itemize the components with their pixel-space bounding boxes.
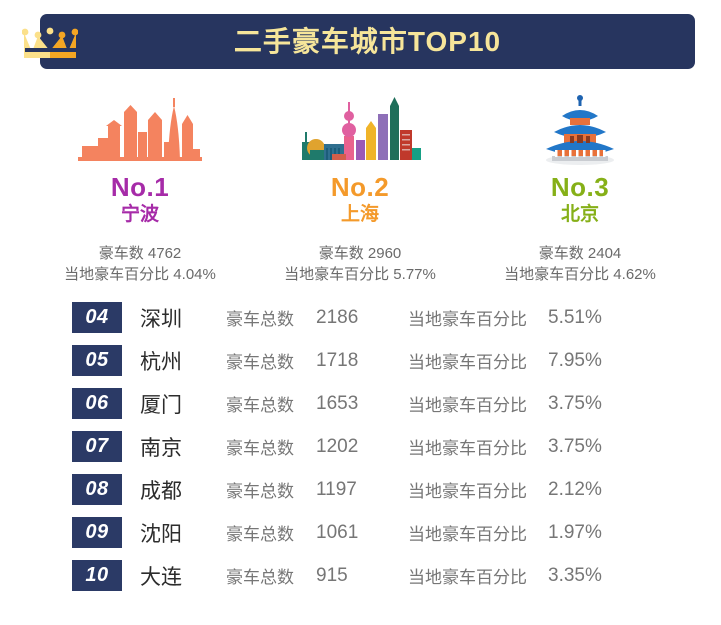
row-percent-label: 当地豪车百分比 (408, 305, 548, 330)
row-percent-label: 当地豪车百分比 (408, 391, 548, 416)
rank-badge: 07 (72, 431, 122, 462)
row-total-label: 豪车总数 (226, 391, 316, 416)
podium-percent-1: 当地豪车百分比 4.04% (20, 264, 260, 285)
row-percent-label: 当地豪车百分比 (408, 477, 548, 502)
podium-stats-2: 豪车数 2960 当地豪车百分比 5.77% (240, 243, 480, 285)
ningbo-skyline-icon (20, 88, 260, 166)
table-row[interactable]: 09 沈阳 豪车总数 1061 当地豪车百分比 1.97% (0, 511, 721, 554)
row-city: 厦门 (140, 389, 226, 419)
podium-count-3: 豪车数 2404 (460, 243, 700, 264)
podium-stats-1: 豪车数 4762 当地豪车百分比 4.04% (20, 243, 260, 285)
shanghai-skyline-icon (240, 88, 480, 166)
row-total-label: 豪车总数 (226, 305, 316, 330)
table-row[interactable]: 06 厦门 豪车总数 1653 当地豪车百分比 3.75% (0, 382, 721, 425)
row-total-value: 1718 (316, 350, 408, 372)
table-row[interactable]: 04 深圳 豪车总数 2186 当地豪车百分比 5.51% (0, 296, 721, 339)
row-city: 沈阳 (140, 518, 226, 548)
row-total-label: 豪车总数 (226, 434, 316, 459)
row-total-value: 915 (316, 565, 408, 587)
city-name-1: 宁波 (20, 203, 260, 227)
city-name-2: 上海 (240, 203, 480, 227)
row-percent-value: 1.97% (548, 522, 602, 544)
row-total-label: 豪车总数 (226, 520, 316, 545)
row-percent-label: 当地豪车百分比 (408, 520, 548, 545)
podium-count-2: 豪车数 2960 (240, 243, 480, 264)
row-total-label: 豪车总数 (226, 477, 316, 502)
row-percent-value: 5.51% (548, 307, 602, 329)
row-percent-label: 当地豪车百分比 (408, 563, 548, 588)
row-percent-value: 2.12% (548, 479, 602, 501)
rank-label-2: No.2 (240, 172, 480, 202)
podium-item-2[interactable]: No.2 上海 豪车数 2960 当地豪车百分比 5.77% (240, 88, 480, 285)
row-total-value: 2186 (316, 307, 408, 329)
podium-stats-3: 豪车数 2404 当地豪车百分比 4.62% (460, 243, 700, 285)
row-total-value: 1197 (316, 479, 408, 501)
row-total-label: 豪车总数 (226, 563, 316, 588)
row-total-value: 1202 (316, 436, 408, 458)
podium-percent-3: 当地豪车百分比 4.62% (460, 264, 700, 285)
beijing-temple-of-heaven-icon (460, 88, 700, 166)
row-percent-label: 当地豪车百分比 (408, 434, 548, 459)
top3-podium: No.1 宁波 豪车数 4762 当地豪车百分比 4.04% (0, 88, 721, 283)
rank-badge: 04 (72, 302, 122, 333)
rank-badge: 05 (72, 345, 122, 376)
city-name-3: 北京 (460, 203, 700, 227)
podium-item-3[interactable]: No.3 北京 豪车数 2404 当地豪车百分比 4.62% (460, 88, 700, 285)
table-row[interactable]: 08 成都 豪车总数 1197 当地豪车百分比 2.12% (0, 468, 721, 511)
row-percent-value: 7.95% (548, 350, 602, 372)
row-percent-value: 3.75% (548, 393, 602, 415)
rank-label-1: No.1 (20, 172, 260, 202)
podium-count-1: 豪车数 4762 (20, 243, 260, 264)
rank-badge: 10 (72, 560, 122, 591)
row-city: 大连 (140, 561, 226, 591)
row-city: 南京 (140, 432, 226, 462)
podium-item-1[interactable]: No.1 宁波 豪车数 4762 当地豪车百分比 4.04% (20, 88, 260, 285)
rank-list: 04 深圳 豪车总数 2186 当地豪车百分比 5.51% 05 杭州 豪车总数… (0, 296, 721, 597)
crown-icon (22, 22, 78, 66)
rank-label-3: No.3 (460, 172, 700, 202)
rank-badge: 06 (72, 388, 122, 419)
row-percent-value: 3.75% (548, 436, 602, 458)
row-city: 杭州 (140, 346, 226, 376)
row-total-value: 1061 (316, 522, 408, 544)
rank-badge: 09 (72, 517, 122, 548)
table-row[interactable]: 07 南京 豪车总数 1202 当地豪车百分比 3.75% (0, 425, 721, 468)
header-banner: 二手豪车城市TOP10 (0, 0, 721, 86)
row-total-value: 1653 (316, 393, 408, 415)
table-row[interactable]: 10 大连 豪车总数 915 当地豪车百分比 3.35% (0, 554, 721, 597)
row-total-label: 豪车总数 (226, 348, 316, 373)
page-title: 二手豪车城市TOP10 (40, 14, 695, 69)
row-percent-label: 当地豪车百分比 (408, 348, 548, 373)
podium-percent-2: 当地豪车百分比 5.77% (240, 264, 480, 285)
row-city: 深圳 (140, 303, 226, 333)
table-row[interactable]: 05 杭州 豪车总数 1718 当地豪车百分比 7.95% (0, 339, 721, 382)
row-city: 成都 (140, 475, 226, 505)
row-percent-value: 3.35% (548, 565, 602, 587)
rank-badge: 08 (72, 474, 122, 505)
